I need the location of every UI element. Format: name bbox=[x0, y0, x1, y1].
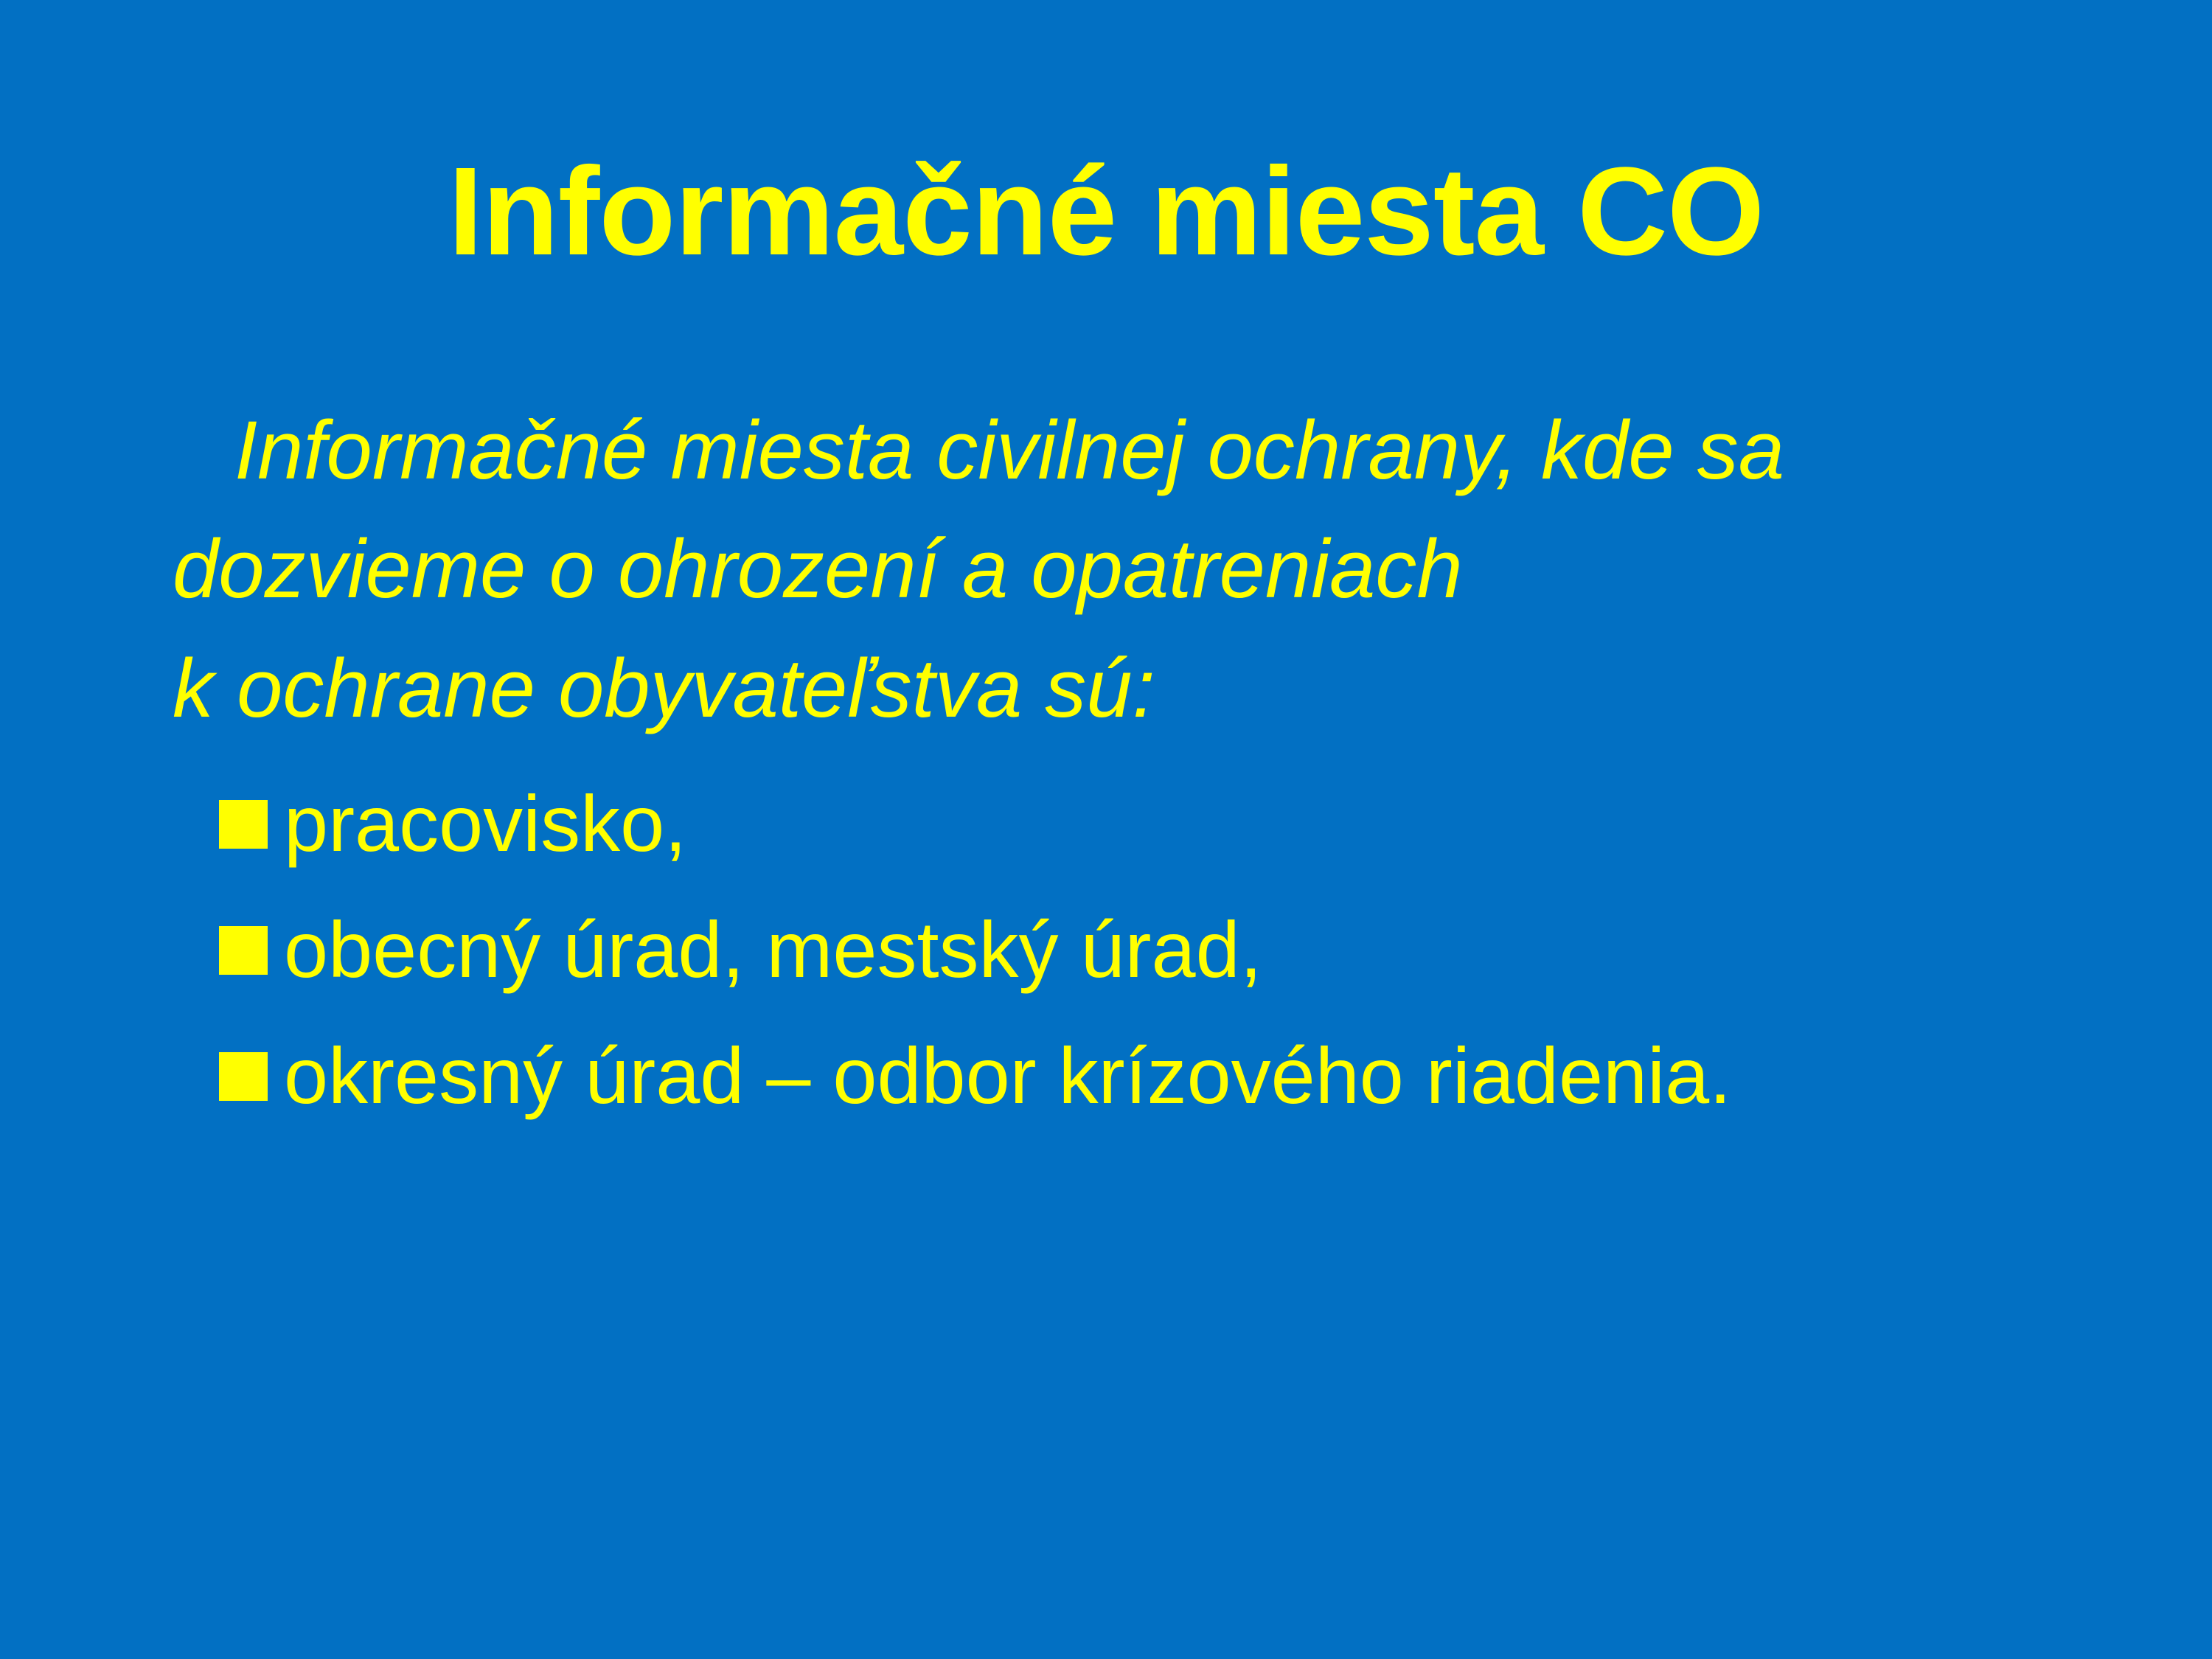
square-bullet-icon bbox=[219, 1052, 268, 1101]
list-item: okresný úrad – odbor krízového riadenia. bbox=[219, 1036, 2062, 1116]
presentation-slide: Informačné miesta CO Informačné miesta c… bbox=[0, 0, 2212, 1659]
intro-paragraph: Informačné miesta civilnej ochrany, kde … bbox=[111, 391, 2094, 748]
list-item: obecný úrad, mestský úrad, bbox=[219, 910, 2062, 990]
paragraph-line-3: k ochrane obyvateľstva sú: bbox=[111, 629, 2094, 748]
paragraph-word: kde bbox=[1541, 404, 1674, 496]
paragraph-line-2: dozvieme o ohrození a opatreniach bbox=[111, 509, 2094, 628]
list-item-label: obecný úrad, mestský úrad, bbox=[284, 910, 1262, 990]
paragraph-word: ohrození bbox=[618, 523, 939, 615]
slide-title: Informačné miesta CO bbox=[0, 145, 2212, 280]
paragraph-word: opatreniach bbox=[1031, 523, 1462, 615]
paragraph-word: civilnej bbox=[936, 404, 1184, 496]
list-item-label: okresný úrad – odbor krízového riadenia. bbox=[284, 1036, 1731, 1116]
square-bullet-icon bbox=[219, 926, 268, 975]
paragraph-word: miesta bbox=[670, 404, 914, 496]
list-item-label: pracovisko, bbox=[284, 784, 686, 863]
list-item: pracovisko, bbox=[219, 784, 2062, 863]
paragraph-word: sa bbox=[1697, 404, 1784, 496]
paragraph-word: a bbox=[962, 523, 1008, 615]
paragraph-line-1: Informačné miesta civilnej ochrany, kde … bbox=[111, 391, 2094, 509]
paragraph-word: o bbox=[549, 523, 594, 615]
paragraph-word: Informačné bbox=[234, 404, 647, 496]
paragraph-word: dozvieme bbox=[173, 523, 526, 615]
square-bullet-icon bbox=[219, 800, 268, 849]
slide-body: Informačné miesta civilnej ochrany, kde … bbox=[111, 391, 2094, 748]
paragraph-word: ochrany, bbox=[1208, 404, 1518, 496]
bullet-list: pracovisko, obecný úrad, mestský úrad, o… bbox=[219, 784, 2062, 1162]
